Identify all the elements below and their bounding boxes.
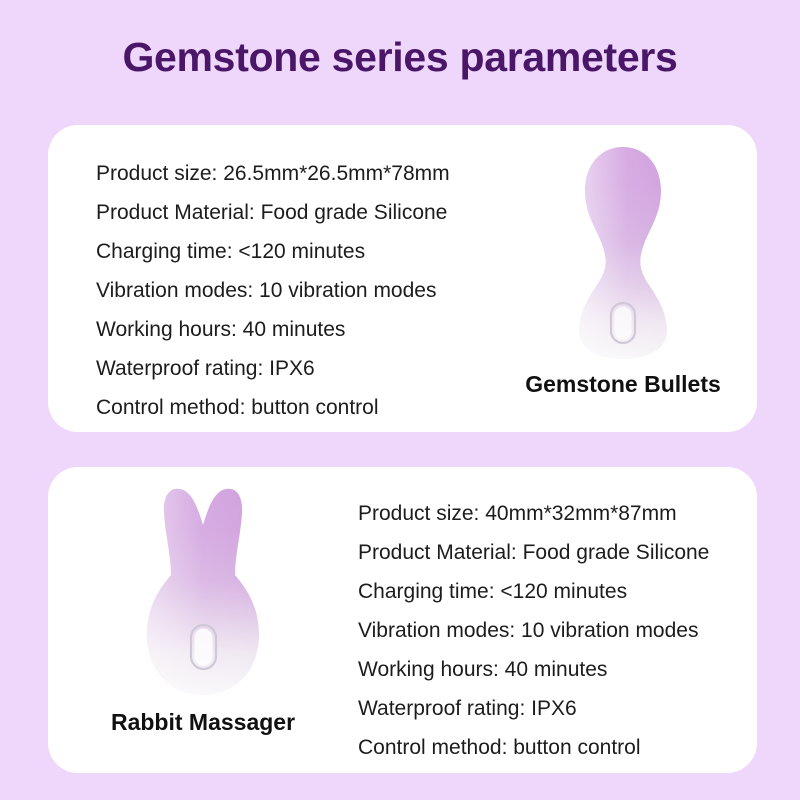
spec-line-working-hours: Working hours: 40 minutes (96, 310, 450, 349)
page-title: Gemstone series parameters (0, 34, 800, 81)
spec-list-rabbit-massager: Product size: 40mm*32mm*87mm Product Mat… (358, 494, 709, 767)
product-card-gemstone-bullets: Product size: 26.5mm*26.5mm*78mm Product… (48, 125, 757, 432)
product-card-rabbit-massager: Rabbit Massager Product size: 40mm*32mm*… (48, 467, 757, 773)
product-caption-rabbit-massager: Rabbit Massager (111, 709, 295, 736)
spec-line-product-material: Product Material: Food grade Silicone (358, 533, 709, 572)
rabbit-massager-icon (123, 483, 283, 701)
spec-line-control-method: Control method: button control (96, 388, 450, 427)
spec-line-control-method: Control method: button control (358, 728, 709, 767)
product-image-rabbit-massager: Rabbit Massager (68, 483, 338, 758)
spec-line-charging-time: Charging time: <120 minutes (358, 572, 709, 611)
spec-line-vibration-modes: Vibration modes: 10 vibration modes (96, 271, 450, 310)
spec-line-product-size: Product size: 26.5mm*26.5mm*78mm (96, 154, 450, 193)
spec-list-gemstone-bullets: Product size: 26.5mm*26.5mm*78mm Product… (96, 154, 450, 427)
product-caption-gemstone-bullets: Gemstone Bullets (525, 371, 721, 398)
spec-line-vibration-modes: Vibration modes: 10 vibration modes (358, 611, 709, 650)
spec-sheet-page: Gemstone series parameters Product size:… (0, 0, 800, 800)
bullet-vibrator-icon (548, 143, 698, 363)
spec-line-waterproof-rating: Waterproof rating: IPX6 (358, 689, 709, 728)
spec-line-product-size: Product size: 40mm*32mm*87mm (358, 494, 709, 533)
spec-line-charging-time: Charging time: <120 minutes (96, 232, 450, 271)
spec-line-waterproof-rating: Waterproof rating: IPX6 (96, 349, 450, 388)
product-image-gemstone-bullets: Gemstone Bullets (503, 143, 743, 413)
spec-line-product-material: Product Material: Food grade Silicone (96, 193, 450, 232)
spec-line-working-hours: Working hours: 40 minutes (358, 650, 709, 689)
